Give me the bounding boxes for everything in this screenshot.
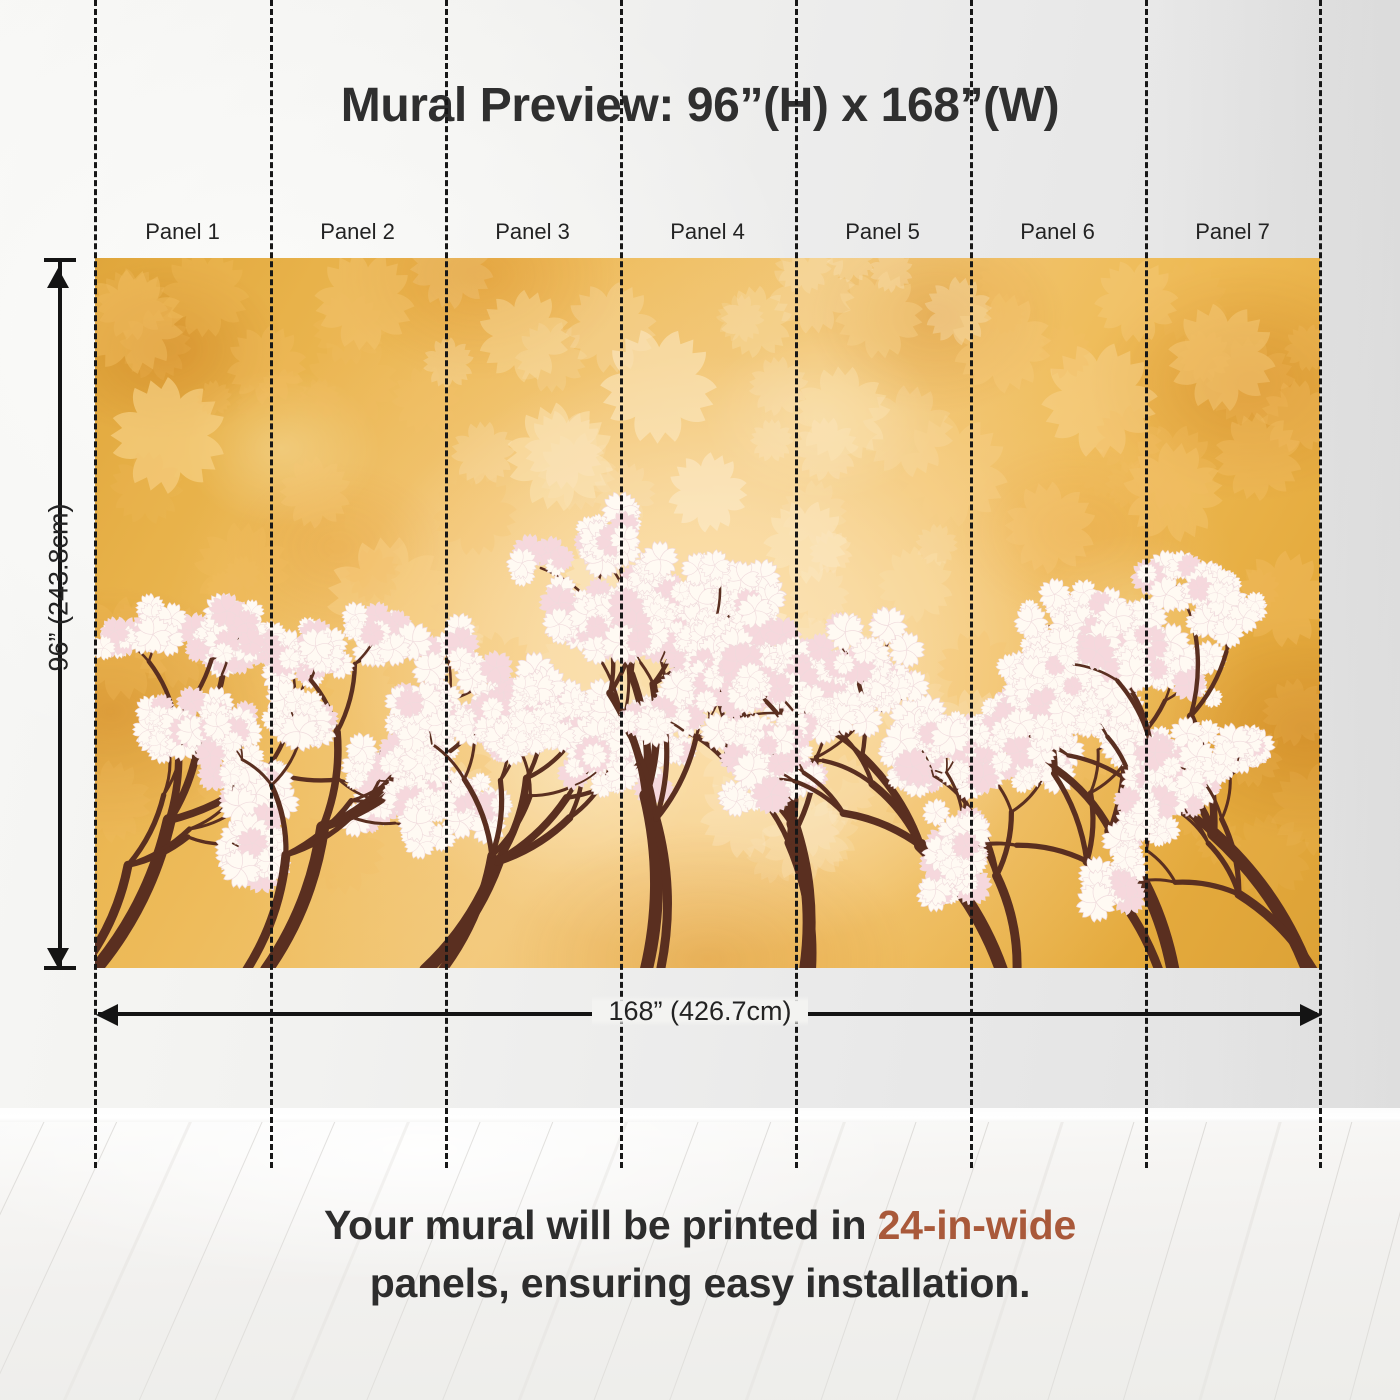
panel-label-5: Panel 5 [795,216,970,248]
panel-label-4: Panel 4 [620,216,795,248]
height-dimension-label: 96” (243.8cm) [44,458,75,718]
panel-seam-1 [270,0,273,1168]
caption-line-2: panels, ensuring easy installation. [0,1254,1400,1312]
caption-line-1-text: Your mural will be printed in [324,1202,878,1248]
mural-right-edge-line [1319,0,1322,1168]
caption: Your mural will be printed in 24-in-wide… [0,1196,1400,1312]
mural-left-edge-line [94,0,97,1168]
panel-label-7: Panel 7 [1145,216,1320,248]
panel-label-1: Panel 1 [95,216,270,248]
tree-branch [1147,851,1175,883]
cherry-tree-layer [95,258,1320,968]
panel-label-6: Panel 6 [970,216,1145,248]
caption-line-1: Your mural will be printed in 24-in-wide [0,1196,1400,1254]
mural-preview[interactable] [95,258,1320,968]
panel-seam-5 [970,0,973,1168]
panel-label-2: Panel 2 [270,216,445,248]
tree-branch [1138,880,1175,883]
panel-seam-2 [445,0,448,1168]
panel-label-3: Panel 3 [445,216,620,248]
panel-seam-6 [1145,0,1148,1168]
mural-artwork [95,258,1320,968]
panel-label-row: Panel 1Panel 2Panel 3Panel 4Panel 5Panel… [95,216,1320,248]
height-dimension-cap-bottom [44,966,76,970]
panel-seam-3 [620,0,623,1168]
panel-seam-4 [795,0,798,1168]
tree-branch [1091,750,1099,793]
tree-branch [1175,882,1239,894]
width-dimension-label: 168” (426.7cm) [0,996,1400,1027]
tree-branch [95,820,169,968]
height-arrow-down-icon [47,948,69,968]
tree-branch [1222,777,1231,819]
tree-branch [1016,845,1086,861]
tree-branch [1055,769,1110,832]
page-title: Mural Preview: 96”(H) x 168”(W) [0,78,1400,133]
caption-accent-text: 24-in-wide [878,1202,1076,1248]
width-dimension-text: 168” (426.7cm) [592,996,807,1026]
